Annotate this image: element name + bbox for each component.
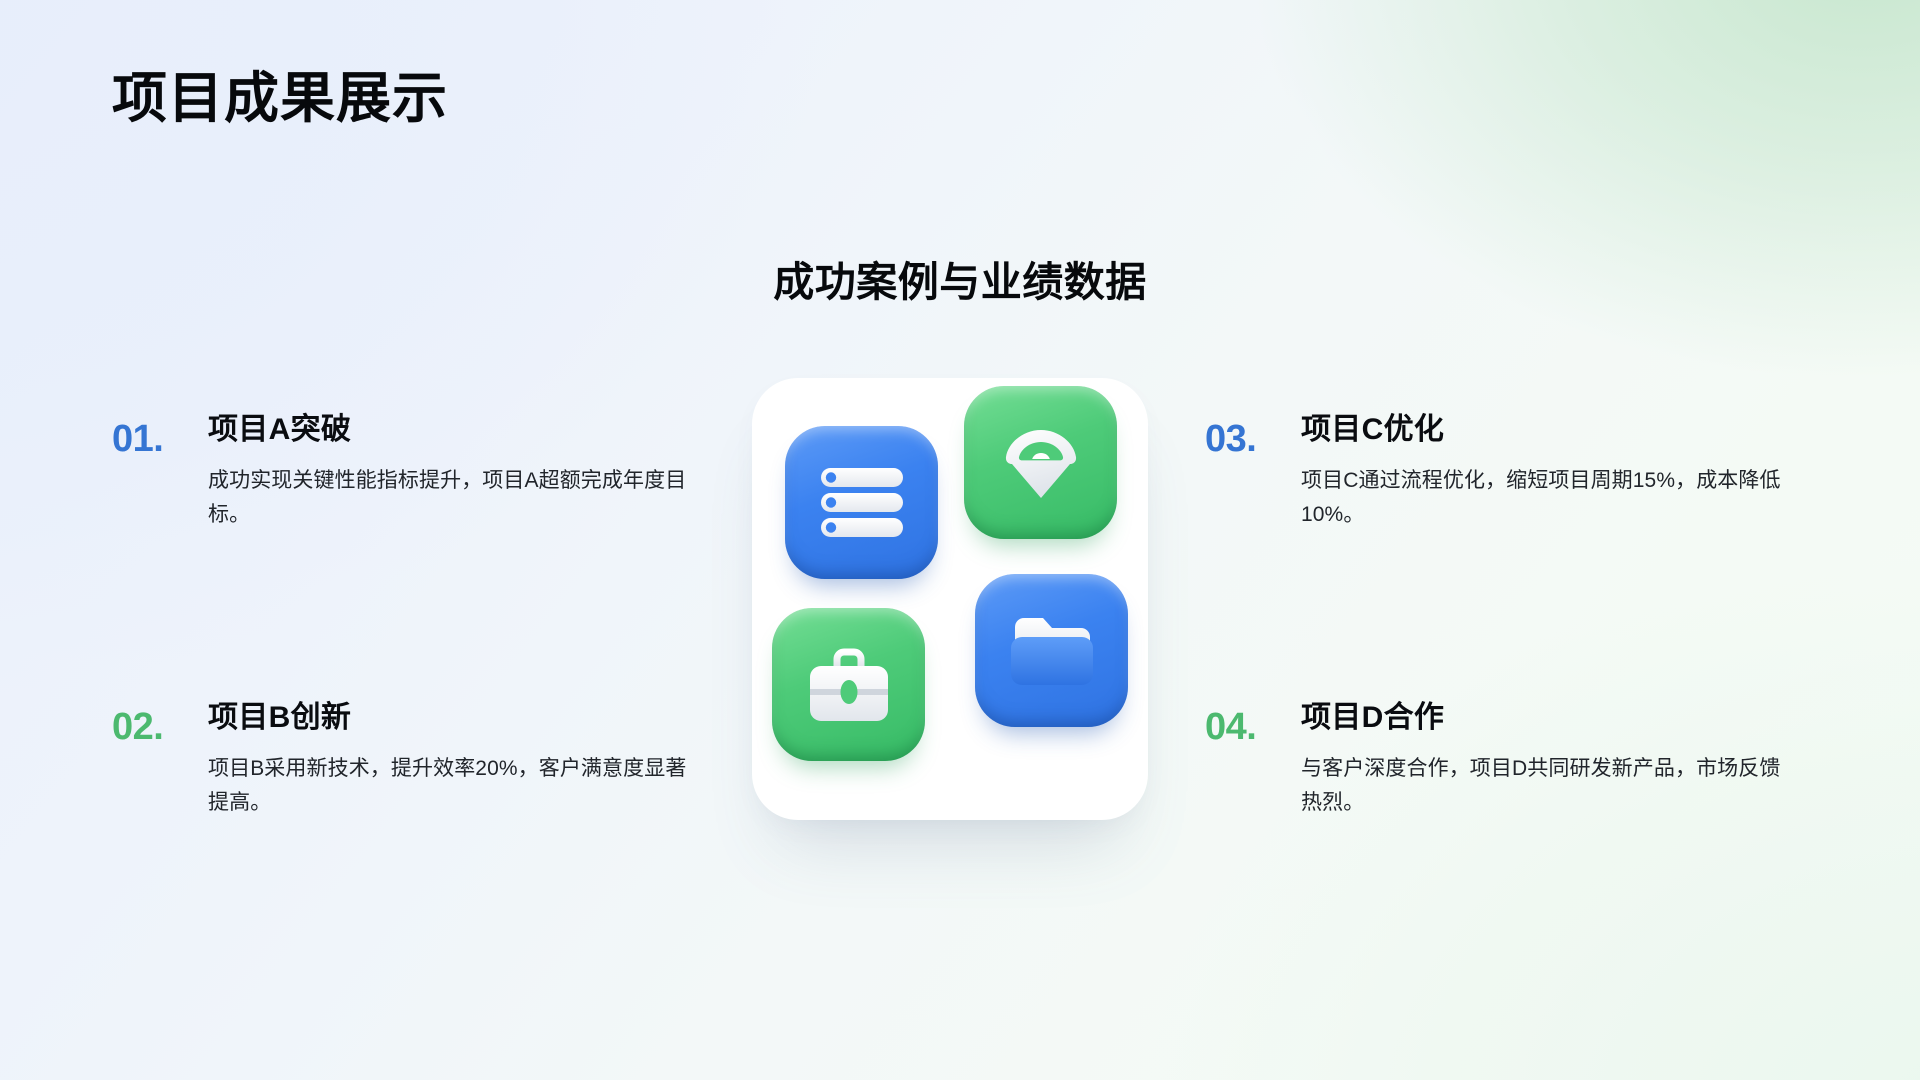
list-item: 02. 项目B创新 项目B采用新技术，提升效率20%，客户满意度显著提高。 [112, 700, 722, 820]
item-body: 项目B创新 项目B采用新技术，提升效率20%，客户满意度显著提高。 [208, 700, 722, 820]
section-subtitle: 成功案例与业绩数据 [0, 248, 1920, 308]
tile-list [785, 426, 938, 579]
icon-illustration-card [752, 378, 1148, 820]
list-icon [819, 467, 905, 539]
tile-signal [964, 386, 1117, 539]
briefcase-icon [807, 646, 891, 724]
item-title: 项目B创新 [208, 700, 722, 736]
folder-icon [1008, 613, 1096, 689]
item-body: 项目C优化 项目C通过流程优化，缩短项目周期15%，成本降低10%。 [1301, 412, 1815, 532]
tile-briefcase [772, 608, 925, 761]
item-description: 项目B采用新技术，提升效率20%，客户满意度显著提高。 [208, 752, 706, 820]
item-number: 04. [1205, 700, 1301, 746]
item-body: 项目D合作 与客户深度合作，项目D共同研发新产品，市场反馈热烈。 [1301, 700, 1815, 820]
list-item: 01. 项目A突破 成功实现关键性能指标提升，项目A超额完成年度目标。 [112, 412, 722, 532]
item-number: 02. [112, 700, 208, 746]
tile-folder [975, 574, 1128, 727]
slide-canvas: 项目成果展示 成功案例与业绩数据 01. 项目A突破 成功实现关键性能指标提升，… [0, 0, 1920, 1080]
signal-icon [1003, 424, 1079, 502]
item-description: 项目C通过流程优化，缩短项目周期15%，成本降低10%。 [1301, 464, 1799, 532]
page-title: 项目成果展示 [112, 68, 448, 129]
item-number: 03. [1205, 412, 1301, 458]
item-description: 与客户深度合作，项目D共同研发新产品，市场反馈热烈。 [1301, 752, 1799, 820]
item-body: 项目A突破 成功实现关键性能指标提升，项目A超额完成年度目标。 [208, 412, 722, 532]
item-description: 成功实现关键性能指标提升，项目A超额完成年度目标。 [208, 464, 706, 532]
item-title: 项目D合作 [1301, 700, 1815, 736]
list-item: 03. 项目C优化 项目C通过流程优化，缩短项目周期15%，成本降低10%。 [1205, 412, 1815, 532]
list-item: 04. 项目D合作 与客户深度合作，项目D共同研发新产品，市场反馈热烈。 [1205, 700, 1815, 820]
item-number: 01. [112, 412, 208, 458]
item-title: 项目A突破 [208, 412, 722, 448]
item-title: 项目C优化 [1301, 412, 1815, 448]
